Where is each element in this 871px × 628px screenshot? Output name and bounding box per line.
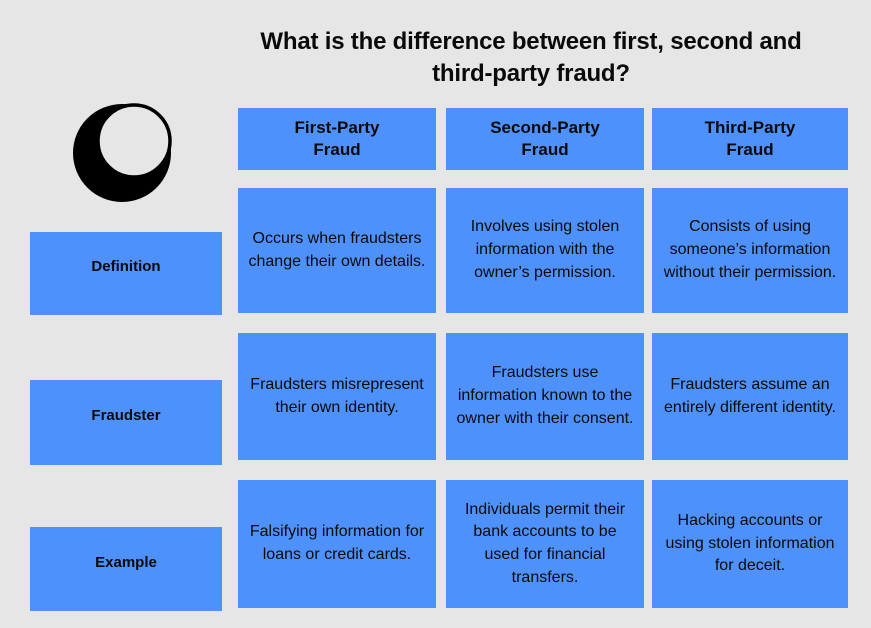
cell-example-third-party: Hacking accounts or using stolen informa… bbox=[652, 480, 848, 608]
row-label-definition-text: Definition bbox=[30, 258, 222, 289]
cell-definition-second-party: Involves using stolen information with t… bbox=[446, 188, 644, 313]
row-label-example-text: Example bbox=[30, 554, 222, 585]
cell-example-third-party-text: Hacking accounts or using stolen informa… bbox=[652, 510, 848, 578]
cell-definition-third-party: Consists of using someone’s information … bbox=[652, 188, 848, 313]
row-label-example: Example bbox=[30, 527, 222, 611]
cell-definition-second-party-text: Involves using stolen information with t… bbox=[446, 216, 644, 284]
cell-example-second-party: Individuals permit their bank accounts t… bbox=[446, 480, 644, 608]
cell-example-first-party-text: Falsifying information for loans or cred… bbox=[238, 521, 436, 566]
page-title-line-2: third-party fraud? bbox=[210, 58, 852, 90]
column-header-first-party: First-Party Fraud bbox=[238, 108, 436, 170]
infographic-canvas: What is the difference between first, se… bbox=[0, 0, 871, 628]
column-header-third-party-line-1: Third-Party bbox=[705, 118, 796, 137]
cell-fraudster-second-party: Fraudsters use information known to the … bbox=[446, 333, 644, 460]
cell-definition-first-party-text: Occurs when fraudsters change their own … bbox=[238, 228, 436, 273]
column-header-first-party-line-2: Fraud bbox=[313, 140, 360, 159]
cell-fraudster-first-party: Fraudsters misrepresent their own identi… bbox=[238, 333, 436, 460]
overlapping-circles-logo bbox=[72, 99, 176, 203]
column-header-second-party: Second-Party Fraud bbox=[446, 108, 644, 170]
page-title: What is the difference between first, se… bbox=[210, 26, 852, 90]
cell-example-second-party-text: Individuals permit their bank accounts t… bbox=[446, 499, 644, 590]
row-label-fraudster-text: Fraudster bbox=[30, 407, 222, 438]
cell-fraudster-second-party-text: Fraudsters use information known to the … bbox=[446, 362, 644, 430]
page-title-line-1: What is the difference between first, se… bbox=[210, 26, 852, 58]
cell-fraudster-third-party-text: Fraudsters assume an entirely different … bbox=[652, 374, 848, 419]
column-header-third-party-line-2: Fraud bbox=[726, 140, 773, 159]
row-label-definition: Definition bbox=[30, 232, 222, 315]
cell-fraudster-first-party-text: Fraudsters misrepresent their own identi… bbox=[238, 374, 436, 419]
column-header-first-party-line-1: First-Party bbox=[294, 118, 379, 137]
cell-fraudster-third-party: Fraudsters assume an entirely different … bbox=[652, 333, 848, 460]
column-header-second-party-line-2: Fraud bbox=[521, 140, 568, 159]
column-header-second-party-line-1: Second-Party bbox=[490, 118, 600, 137]
cell-definition-first-party: Occurs when fraudsters change their own … bbox=[238, 188, 436, 313]
cell-example-first-party: Falsifying information for loans or cred… bbox=[238, 480, 436, 608]
column-header-third-party: Third-Party Fraud bbox=[652, 108, 848, 170]
row-label-fraudster: Fraudster bbox=[30, 380, 222, 465]
cell-definition-third-party-text: Consists of using someone’s information … bbox=[652, 216, 848, 284]
